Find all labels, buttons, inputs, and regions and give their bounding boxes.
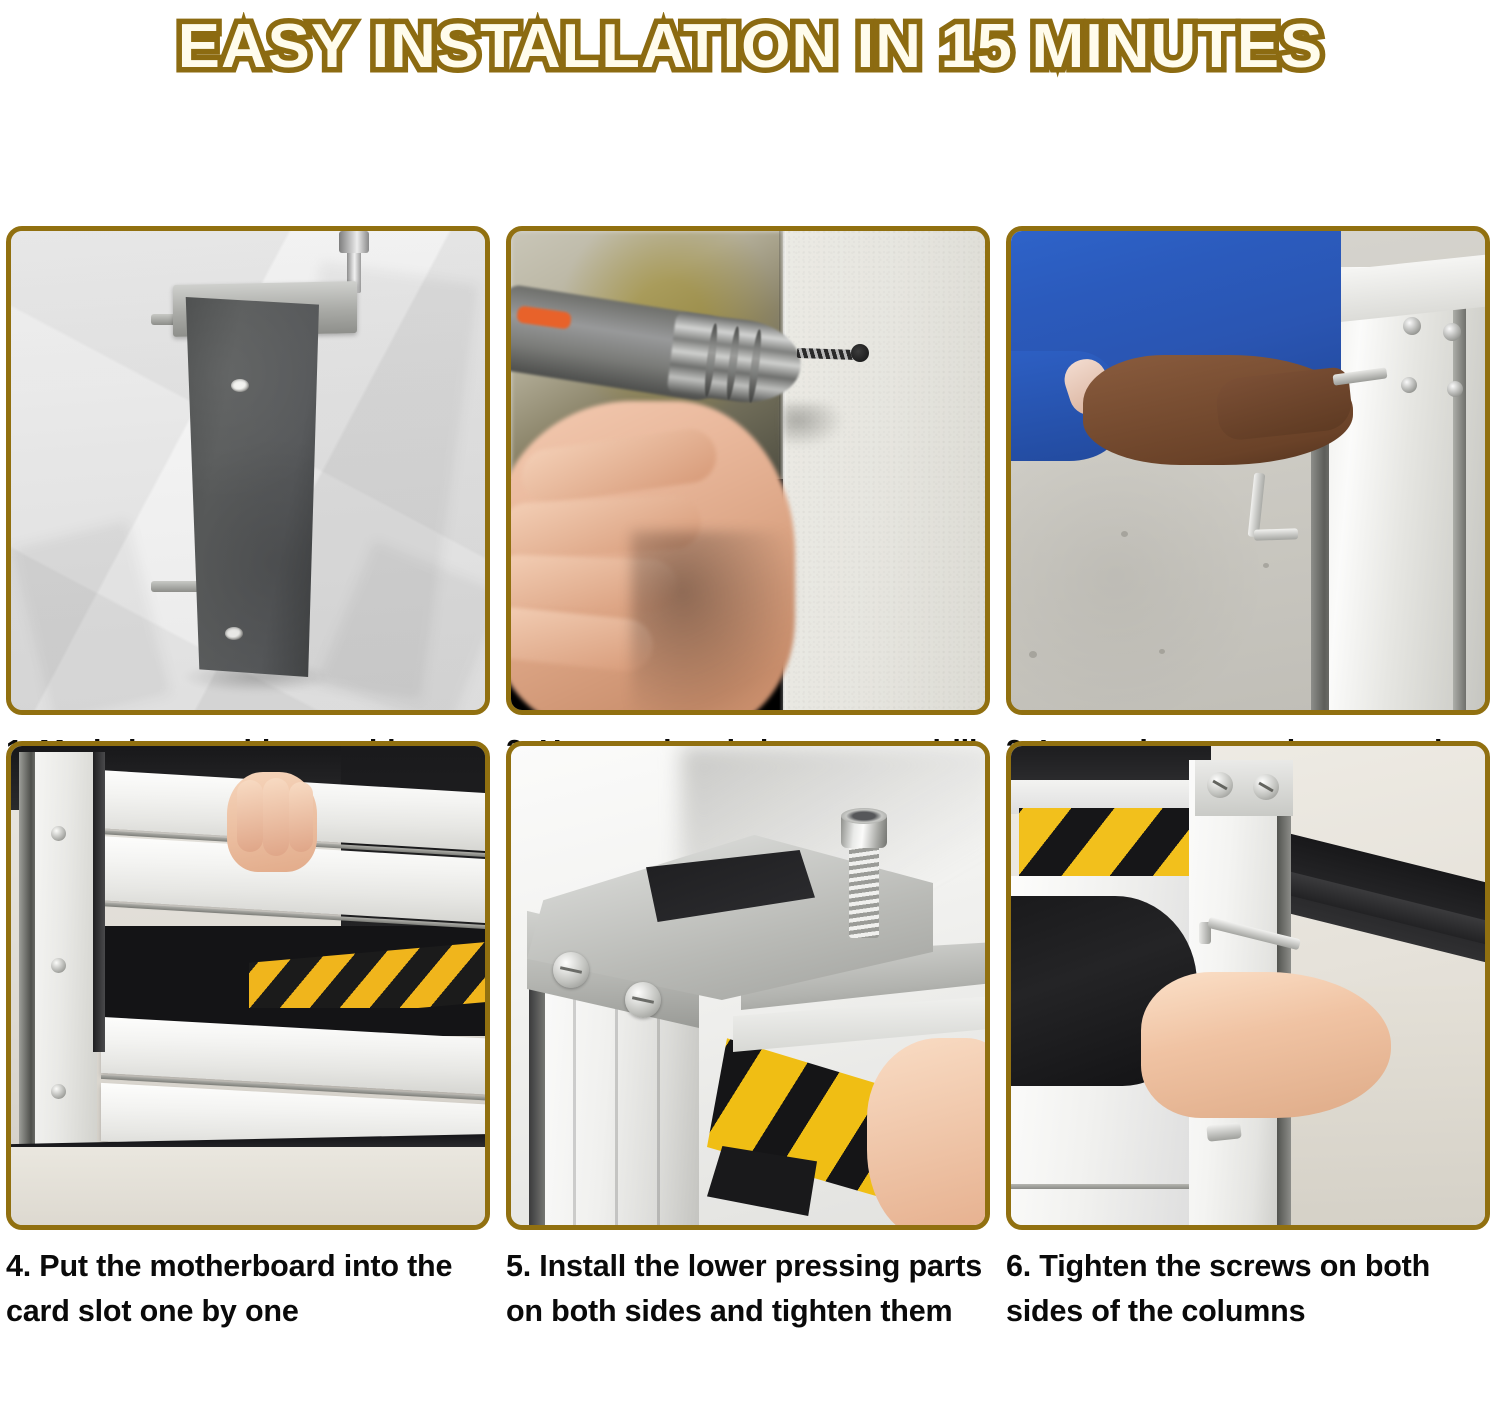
step-photo-frame-1 <box>6 226 490 715</box>
step-caption-4: 4. Put the motherboard into the card slo… <box>6 1244 490 1384</box>
steps-row-bottom: 4. Put the motherboard into the card slo… <box>0 717 1500 1361</box>
step-caption-6: 6. Tighten the screws on both sides of t… <box>1006 1244 1490 1384</box>
step-photo-frame-5 <box>506 741 990 1230</box>
installation-steps-grid: 1. Mark the punching position <box>0 92 1500 1361</box>
step-card-1: 1. Mark the punching position <box>0 226 500 717</box>
step-card-6: 6. Tighten the screws on both sides of t… <box>1000 741 1500 1361</box>
step-photo-frame-4 <box>6 741 490 1230</box>
step-photo-4 <box>11 746 485 1225</box>
step-photo-frame-2 <box>506 226 990 715</box>
header-banner: EASY INSTALLATION IN 15 MINUTES <box>0 0 1500 92</box>
step-card-4: 4. Put the motherboard into the card slo… <box>0 741 500 1361</box>
step-photo-frame-3 <box>1006 226 1490 715</box>
step-photo-2 <box>511 231 985 710</box>
page-title: EASY INSTALLATION IN 15 MINUTES <box>177 11 1322 82</box>
step-photo-frame-6 <box>1006 741 1490 1230</box>
step-photo-3 <box>1011 231 1485 710</box>
step-card-5: 5. Install the lower pressing parts on b… <box>500 741 1000 1361</box>
step-photo-5 <box>511 746 985 1225</box>
step-photo-1 <box>11 231 485 710</box>
step-caption-5: 5. Install the lower pressing parts on b… <box>506 1244 990 1384</box>
step-card-3: 3. Insert the expansion screw into the h… <box>1000 226 1500 717</box>
steps-row-top: 1. Mark the punching position <box>0 92 1500 717</box>
step-card-2: 2. Use an electric hammer to drill holes… <box>500 226 1000 717</box>
step-photo-6 <box>1011 746 1485 1225</box>
